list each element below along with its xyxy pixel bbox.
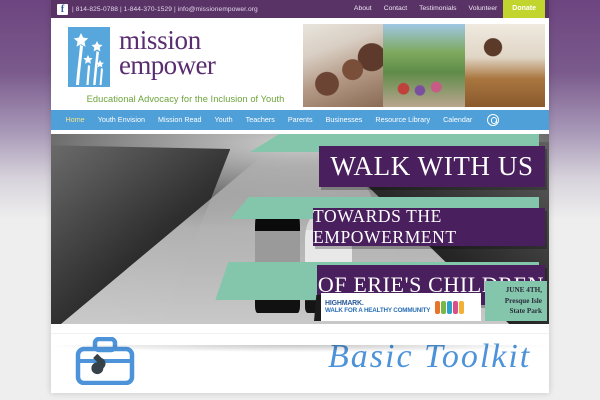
event-location-line-2: State Park	[485, 306, 542, 317]
hero-slider[interactable]: WALK WITH US TOWARDS THE EMPOWERMENT OF …	[51, 134, 549, 324]
sponsor-tagline: WALK FOR A HEALTHY COMMUNITY	[325, 307, 430, 314]
wordmark: mission empower	[119, 27, 215, 78]
toolkit-section: Basic Toolkit	[51, 333, 549, 393]
sponsor-logo: HIGHMARK. WALK FOR A HEALTHY COMMUNITY	[321, 293, 481, 321]
nav-item-businesses[interactable]: Businesses	[319, 110, 369, 130]
brand-block[interactable]: mission empower Educational Advocacy for…	[51, 22, 303, 110]
nav-item-about[interactable]: About	[348, 0, 378, 18]
nav-item-volunteer[interactable]: Volunteer	[463, 0, 504, 18]
sponsor-brand-name: HIGHMARK.	[325, 300, 430, 307]
nav-item-contact[interactable]: Contact	[378, 0, 413, 18]
contact-info: | 814-825-0788 | 1-844-370-1529 | info@m…	[72, 6, 258, 13]
site-tagline: Educational Advocacy for the Inclusion o…	[68, 94, 303, 104]
facebook-icon[interactable]: f	[57, 4, 68, 15]
stars-logo-icon	[68, 27, 110, 87]
site-page: f | 814-825-0788 | 1-844-370-1529 | info…	[51, 0, 549, 393]
event-date: JUNE 4TH,	[485, 285, 542, 296]
nav-item-youth[interactable]: Youth	[208, 110, 239, 130]
event-location-line-1: Presque Isle	[485, 296, 542, 307]
nav-item-home[interactable]: Home	[59, 110, 91, 130]
nav-item-parents[interactable]: Parents	[281, 110, 319, 130]
utility-nav: About Contact Testimonials Volunteer Don…	[348, 0, 545, 18]
event-details: JUNE 4TH, Presque Isle State Park	[485, 281, 547, 321]
nav-item-mission-read[interactable]: Mission Read	[151, 110, 208, 130]
toolbox-wrench-icon	[75, 337, 135, 390]
donate-button[interactable]: Donate	[503, 0, 545, 18]
sponsor-people-icon	[435, 301, 464, 314]
nav-item-youth-envision[interactable]: Youth Envision	[91, 110, 151, 130]
hero-headline-line-1: WALK WITH US	[319, 146, 545, 187]
nav-item-calendar[interactable]: Calendar	[437, 110, 479, 130]
search-icon[interactable]	[487, 114, 499, 126]
utility-bar: f | 814-825-0788 | 1-844-370-1529 | info…	[51, 0, 549, 18]
toolkit-title: Basic Toolkit	[328, 338, 531, 376]
hero-headline-line-2: TOWARDS THE EMPOWERMENT	[313, 208, 545, 246]
nav-item-testimonials[interactable]: Testimonials	[413, 0, 462, 18]
wordmark-line-2: empower	[119, 53, 215, 78]
main-navigation: Home Youth Envision Mission Read Youth T…	[51, 110, 549, 130]
nav-item-resource-library[interactable]: Resource Library	[369, 110, 437, 130]
nav-item-teachers[interactable]: Teachers	[239, 110, 281, 130]
site-header: mission empower Educational Advocacy for…	[51, 18, 549, 110]
header-photo-collage	[303, 24, 545, 107]
